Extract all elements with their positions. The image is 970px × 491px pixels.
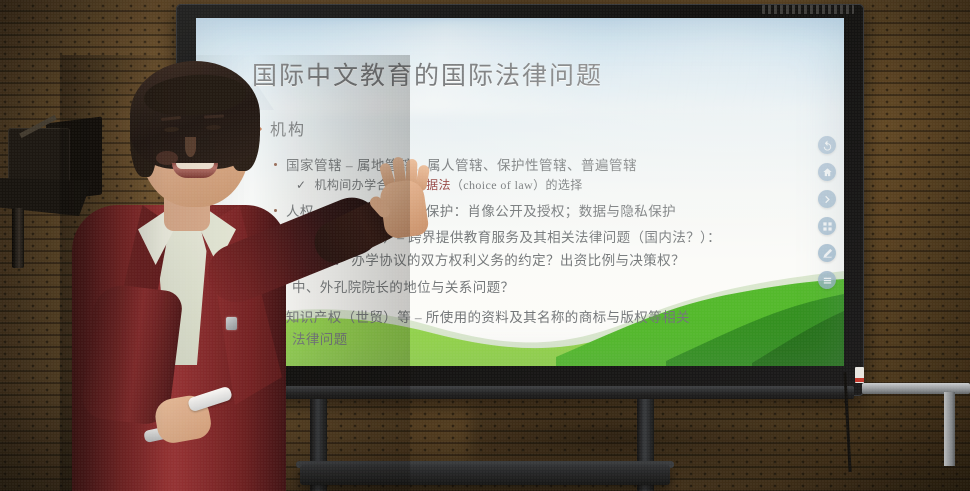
- presenter: [60, 55, 410, 491]
- chevron-right-icon[interactable]: [818, 190, 836, 208]
- slide-line-2-after: （choice of law）的选择: [451, 178, 583, 192]
- lecture-room-photo: 国际中文教育的国际法律问题 机构 国家管辖 – 属地管辖、属人管辖、保护性管辖、…: [0, 0, 970, 491]
- rig-pole: [12, 208, 24, 268]
- menu-list-icon[interactable]: [818, 271, 836, 289]
- home-icon[interactable]: [818, 163, 836, 181]
- presenter-teeth: [176, 163, 214, 169]
- presenter-lapel-pin: [226, 317, 237, 330]
- pen-icon[interactable]: [818, 244, 836, 262]
- display-floating-toolbar[interactable]: [818, 136, 836, 289]
- undo-icon[interactable]: [818, 136, 836, 154]
- apps-grid-icon[interactable]: [818, 217, 836, 235]
- equipment-sticker-stripe: [855, 378, 864, 382]
- presenter-nose: [185, 137, 196, 157]
- wall-mount-post: [944, 392, 955, 466]
- bezel-brand-logo: [762, 5, 854, 14]
